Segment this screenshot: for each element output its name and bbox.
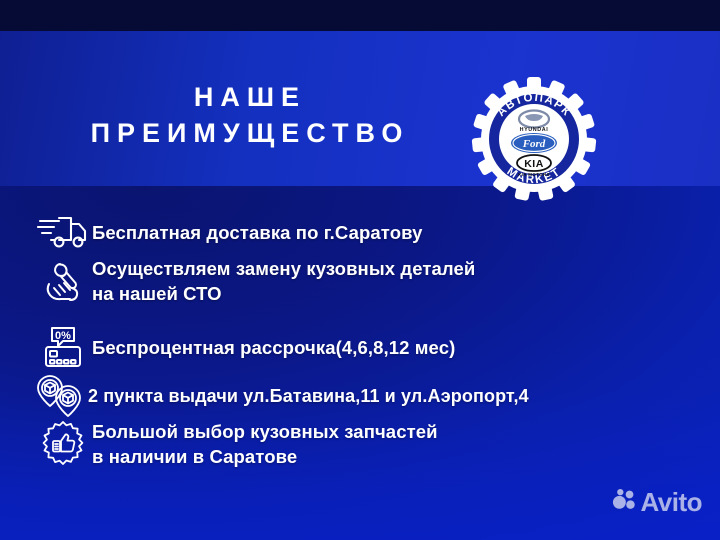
hero-section: НАШЕ ПРЕИМУЩЕСТВО: [0, 31, 720, 186]
avito-watermark: Avito: [612, 487, 702, 518]
delivery-truck-icon: [34, 207, 92, 257]
two-map-pins-icon: [30, 371, 88, 421]
list-item-label: Большой выбор кузовных запчастей в налич…: [92, 419, 438, 469]
zero-percent-card-icon: 0%: [34, 322, 92, 372]
svg-text:Ford: Ford: [522, 138, 546, 150]
list-item: Осуществляем замену кузовных деталей на …: [34, 256, 475, 306]
svg-text:HYUNDAI: HYUNDAI: [520, 127, 549, 133]
hand-wrench-icon: [34, 256, 92, 306]
avtopark-market-emblem: АВТОПАРК MARKET HYUNDAI Ford: [470, 75, 598, 203]
list-item: 0% Беспроцентная рассрочка(4,6,8,12 мес): [34, 322, 455, 372]
promo-poster: НАШЕ ПРЕИМУЩЕСТВО: [0, 0, 720, 540]
avito-dots-icon: [612, 488, 636, 517]
list-item-label: Бесплатная доставка по г.Саратову: [92, 220, 423, 245]
ford-logo: Ford: [511, 133, 557, 153]
thumbs-up-badge-icon: [34, 419, 92, 469]
svg-text:KIA: KIA: [524, 158, 544, 170]
svg-text:KIA MOTORS: KIA MOTORS: [518, 172, 550, 177]
top-strip: [0, 0, 720, 31]
list-item-label: Осуществляем замену кузовных деталей на …: [92, 256, 475, 306]
svg-text:0%: 0%: [55, 330, 71, 342]
list-item: Бесплатная доставка по г.Саратову: [34, 207, 423, 257]
title-line-2: ПРЕИМУЩЕСТВО: [0, 115, 500, 151]
list-item: Большой выбор кузовных запчастей в налич…: [34, 419, 438, 469]
list-item: 2 пункта выдачи ул.Батавина,11 и ул.Аэро…: [30, 371, 529, 421]
list-item-label: Беспроцентная рассрочка(4,6,8,12 мес): [92, 335, 455, 360]
list-item-label: 2 пункта выдачи ул.Батавина,11 и ул.Аэро…: [88, 384, 529, 409]
title-line-1: НАШЕ: [194, 82, 306, 112]
avito-label: Avito: [640, 487, 702, 518]
page-title: НАШЕ ПРЕИМУЩЕСТВО: [0, 79, 500, 151]
